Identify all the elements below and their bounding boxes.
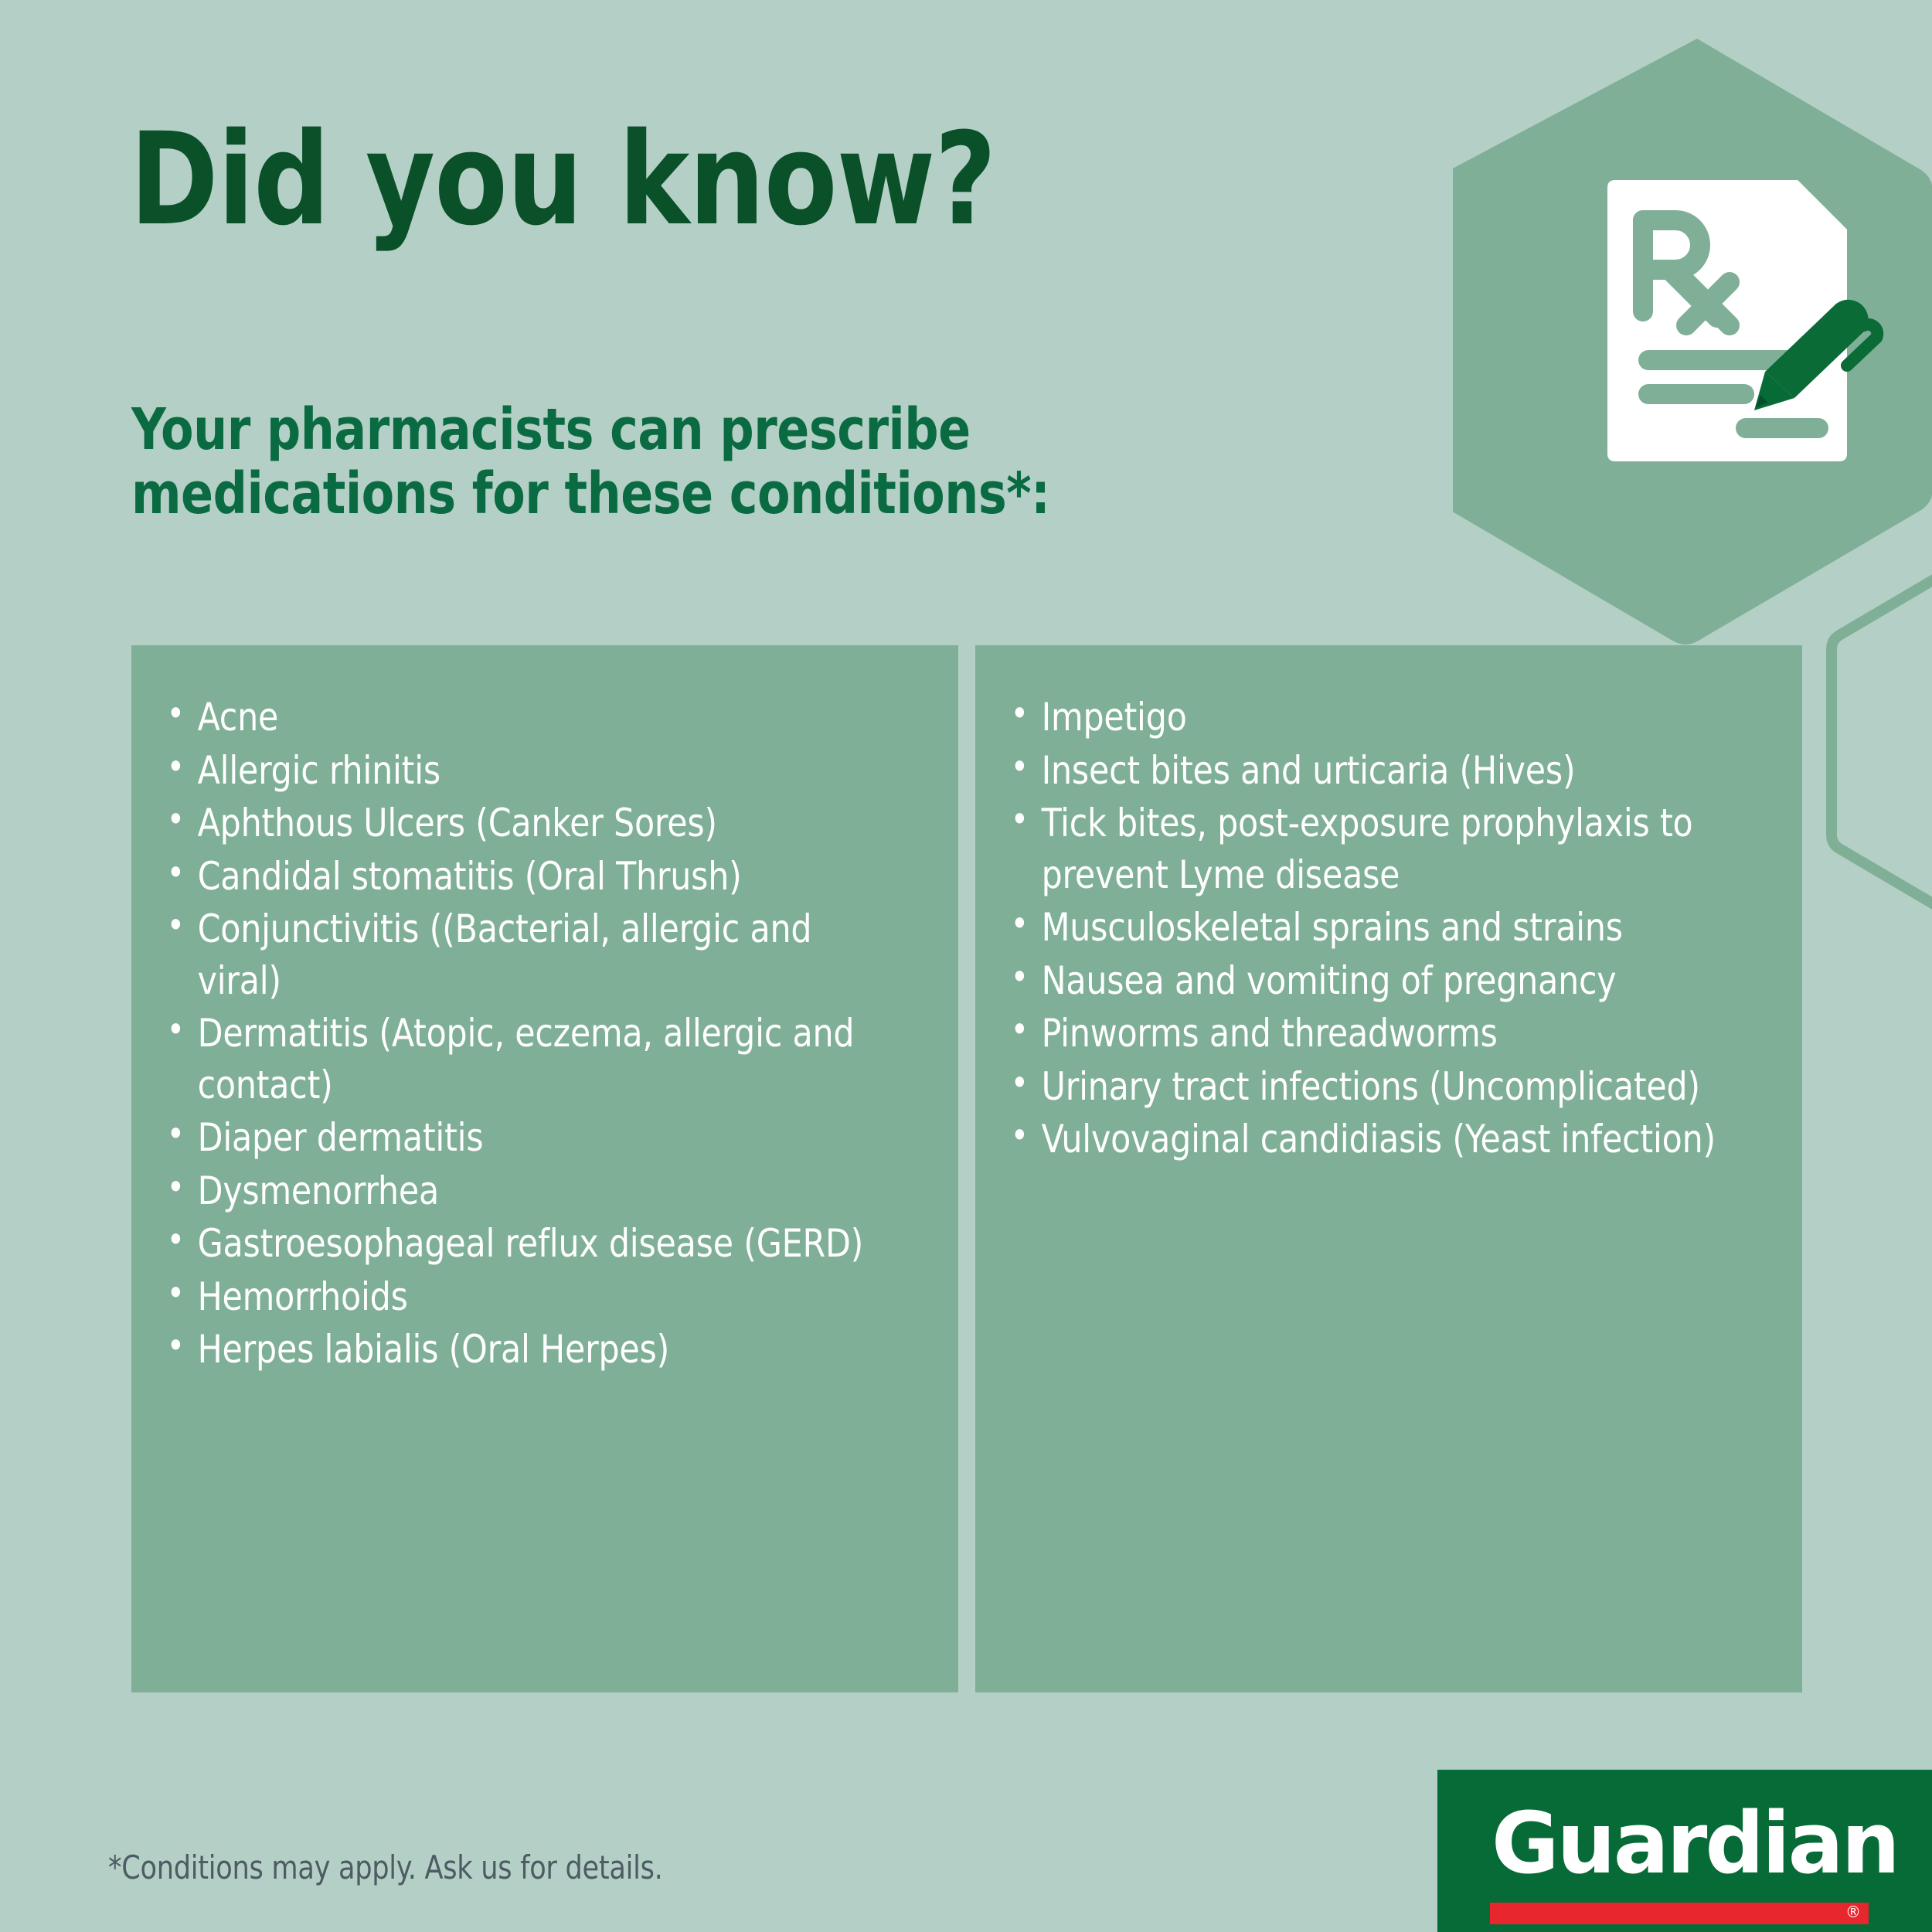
footnote-disclaimer: *Conditions may apply. Ask us for detail… <box>108 1849 662 1886</box>
condition-list-item: Dysmenorrhea <box>162 1165 889 1217</box>
condition-list-item: Musculoskeletal sprains and strains <box>1006 902 1733 954</box>
hexagon-outline-icon <box>1801 541 1932 943</box>
condition-list-item: Acne <box>162 692 889 743</box>
conditions-list-right: ImpetigoInsect bites and urticaria (Hive… <box>1006 692 1771 1165</box>
conditions-list-left: AcneAllergic rhinitisAphthous Ulcers (Ca… <box>162 692 927 1376</box>
subtitle-line-2: medications for these conditions*: <box>131 461 1049 527</box>
subtitle-line-1: Your pharmacists can prescribe <box>131 396 971 463</box>
conditions-panel-left: AcneAllergic rhinitisAphthous Ulcers (Ca… <box>131 645 958 1692</box>
condition-list-item: Insect bites and urticaria (Hives) <box>1006 745 1733 797</box>
infographic-poster: Did you know? Your pharmacists can presc… <box>0 0 1932 1932</box>
registered-trademark-icon: ® <box>1845 1901 1861 1923</box>
condition-list-item: Dermatitis (Atopic, eczema, allergic and… <box>162 1008 889 1111</box>
condition-list-item: Conjunctivitis ((Bacterial, allergic and… <box>162 903 889 1006</box>
condition-list-item: Pinworms and threadworms <box>1006 1008 1733 1060</box>
condition-list-item: Allergic rhinitis <box>162 745 889 797</box>
logo-wordmark: Guardian <box>1492 1801 1898 1886</box>
condition-list-item: Diaper dermatitis <box>162 1112 889 1164</box>
guardian-logo: Guardian ® <box>1437 1770 1932 1932</box>
page-subtitle: Your pharmacists can prescribe medicatio… <box>131 398 1209 526</box>
conditions-panel-right: ImpetigoInsect bites and urticaria (Hive… <box>975 645 1802 1692</box>
prescription-rx-document-icon <box>1592 166 1901 475</box>
condition-list-item: Candidal stomatitis (Oral Thrush) <box>162 851 889 903</box>
condition-list-item: Impetigo <box>1006 692 1733 743</box>
logo-red-bar: ® <box>1490 1903 1869 1924</box>
conditions-panels: AcneAllergic rhinitisAphthous Ulcers (Ca… <box>131 645 1802 1692</box>
condition-list-item: Gastroesophageal reflux disease (GERD) <box>162 1218 889 1270</box>
condition-list-item: Aphthous Ulcers (Canker Sores) <box>162 798 889 849</box>
condition-list-item: Urinary tract infections (Uncomplicated) <box>1006 1061 1733 1113</box>
condition-list-item: Vulvovaginal candidiasis (Yeast infectio… <box>1006 1114 1733 1165</box>
page-title: Did you know? <box>130 116 995 243</box>
condition-list-item: Hemorrhoids <box>162 1271 889 1323</box>
condition-list-item: Nausea and vomiting of pregnancy <box>1006 955 1733 1007</box>
condition-list-item: Herpes labialis (Oral Herpes) <box>162 1324 889 1376</box>
condition-list-item: Tick bites, post-exposure prophylaxis to… <box>1006 798 1733 900</box>
